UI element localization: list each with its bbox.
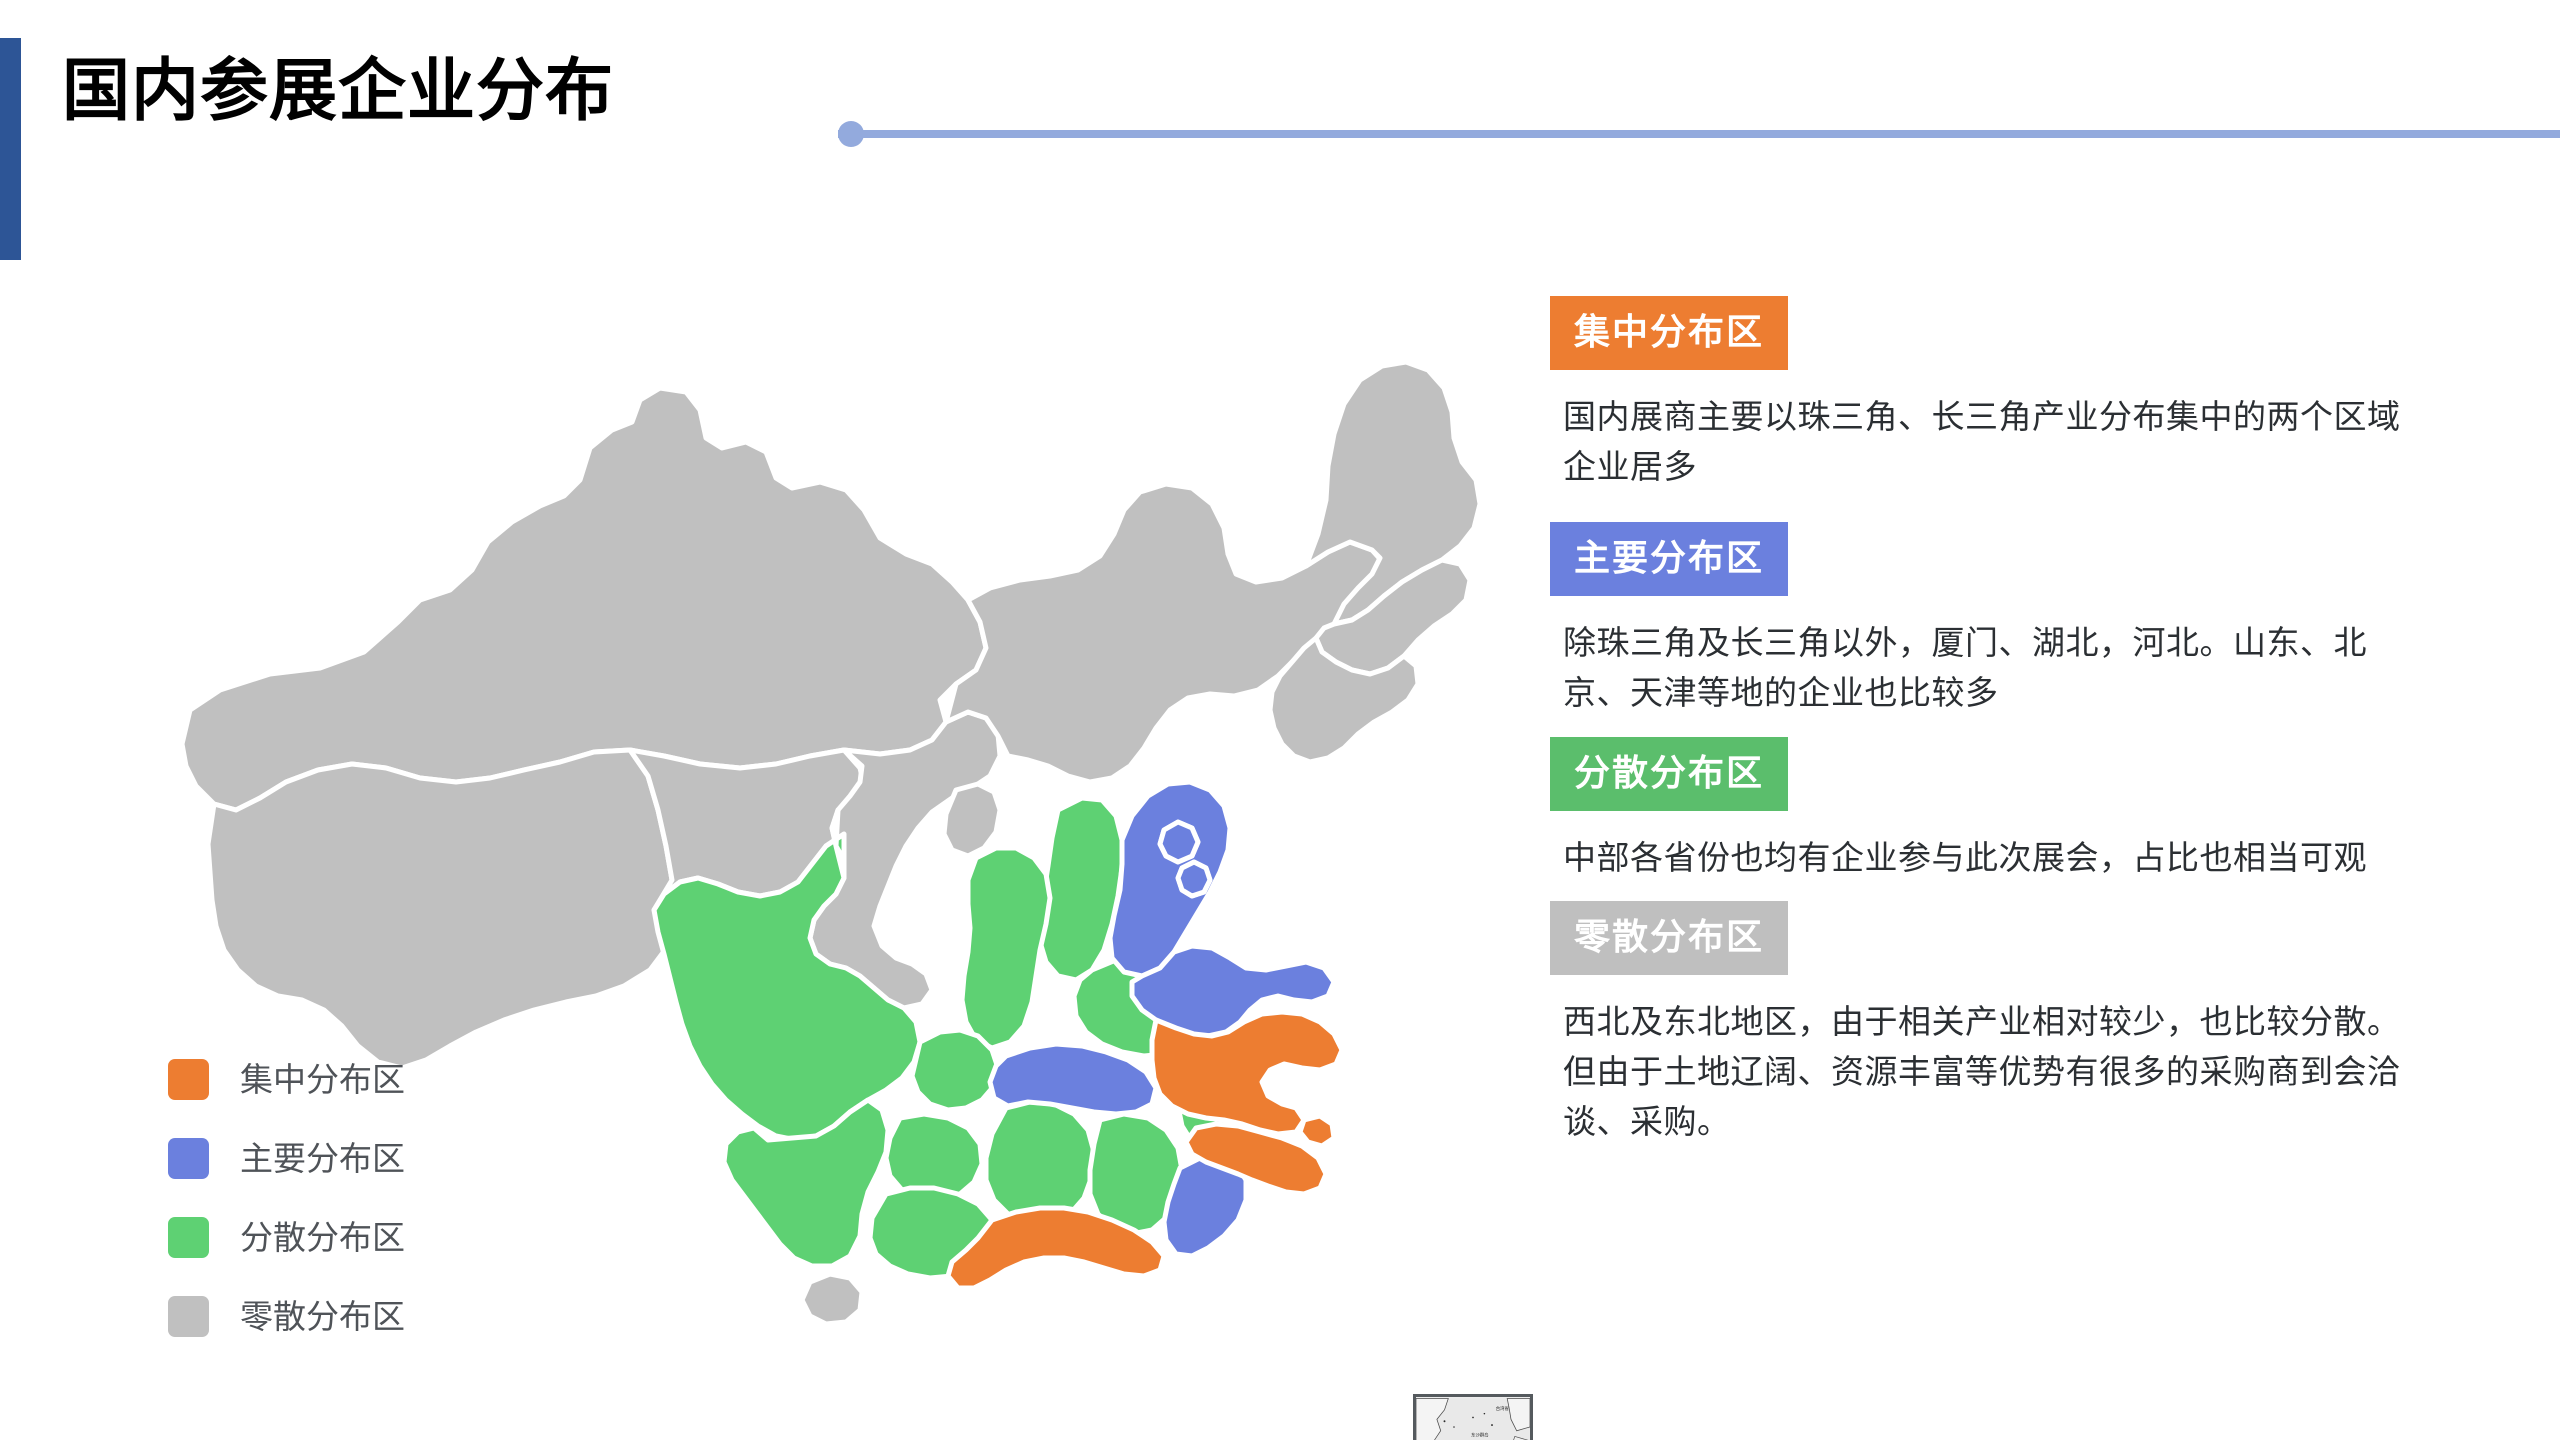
header-rule [838, 130, 2560, 138]
map-region-hunan[interactable] [986, 1102, 1094, 1222]
map-region-tibet[interactable] [208, 750, 676, 1068]
south-china-sea-inset[interactable]: 台湾省 东沙群岛 永兴岛 西沙群岛 东沙岛 中沙群岛 黄岩岛 南 沙 群 岛 曾… [1413, 1394, 1533, 1440]
legend-label-scattered: 零散分布区 [240, 1300, 405, 1333]
body-text-dispersed: 中部各省份也均有企业参与此次展会，占比也相当可观 [1563, 833, 2433, 883]
legend-item-scattered[interactable]: 零散分布区 [168, 1292, 405, 1340]
map-region-shanghai[interactable] [1300, 1116, 1334, 1146]
south-china-sea-inset-svg: 台湾省 东沙群岛 永兴岛 西沙群岛 东沙岛 中沙群岛 黄岩岛 南 沙 群 岛 曾… [1416, 1397, 1530, 1440]
map-region-ningxia[interactable] [944, 784, 1000, 856]
insight-block-major: 主要分布区 除珠三角及长三角以外，厦门、湖北，河北。山东、北京、天津等地的企业也… [1550, 522, 2510, 718]
spacer-3 [1550, 889, 2510, 901]
slide-canvas: 国内参展企业分布 [0, 0, 2560, 1440]
left-accent-bar [0, 38, 21, 260]
legend-swatch-major [168, 1138, 209, 1179]
insight-block-concentrated: 集中分布区 国内展商主要以珠三角、长三角产业分布集中的两个区域企业居多 [1550, 296, 2510, 492]
map-region-tianjin[interactable] [1178, 862, 1210, 896]
map-region-hainan[interactable] [802, 1274, 862, 1324]
spacer-1 [1550, 498, 2510, 522]
map-region-chongqing[interactable] [912, 1030, 998, 1110]
legend-swatch-dispersed [168, 1217, 209, 1258]
legend-swatch-concentrated [168, 1059, 209, 1100]
insight-block-scattered: 零散分布区 西北及东北地区，由于相关产业相对较少，也比较分散。但由于土地辽阔、资… [1550, 901, 2510, 1147]
legend-swatch-scattered [168, 1296, 209, 1337]
body-text-concentrated: 国内展商主要以珠三角、长三角产业分布集中的两个区域企业居多 [1563, 392, 2433, 492]
body-text-scattered: 西北及东北地区，由于相关产业相对较少，也比较分散。但由于土地辽阔、资源丰富等优势… [1563, 997, 2433, 1147]
legend-label-major: 主要分布区 [240, 1142, 405, 1175]
insights-panel: 集中分布区 国内展商主要以珠三角、长三角产业分布集中的两个区域企业居多 主要分布… [1550, 296, 2510, 1153]
map-legend: 集中分布区 主要分布区 分散分布区 零散分布区 [168, 1055, 405, 1371]
legend-item-dispersed[interactable]: 分散分布区 [168, 1213, 405, 1261]
badge-major[interactable]: 主要分布区 [1550, 522, 1788, 596]
map-region-shaanxi[interactable] [962, 848, 1050, 1048]
legend-item-concentrated[interactable]: 集中分布区 [168, 1055, 405, 1103]
page-title: 国内参展企业分布 [62, 57, 614, 125]
badge-scattered[interactable]: 零散分布区 [1550, 901, 1788, 975]
legend-label-dispersed: 分散分布区 [240, 1221, 405, 1254]
map-region-xinjiang[interactable] [182, 388, 986, 810]
map-region-beijing[interactable] [1160, 822, 1198, 862]
badge-concentrated[interactable]: 集中分布区 [1550, 296, 1788, 370]
badge-dispersed[interactable]: 分散分布区 [1550, 737, 1788, 811]
spacer-2 [1550, 725, 2510, 737]
body-text-major: 除珠三角及长三角以外，厦门、湖北，河北。山东、北京、天津等地的企业也比较多 [1563, 618, 2433, 718]
header-rule-dot-icon [838, 121, 864, 147]
legend-label-concentrated: 集中分布区 [240, 1063, 405, 1096]
legend-item-major[interactable]: 主要分布区 [168, 1134, 405, 1182]
insight-block-dispersed: 分散分布区 中部各省份也均有企业参与此次展会，占比也相当可观 [1550, 737, 2510, 883]
